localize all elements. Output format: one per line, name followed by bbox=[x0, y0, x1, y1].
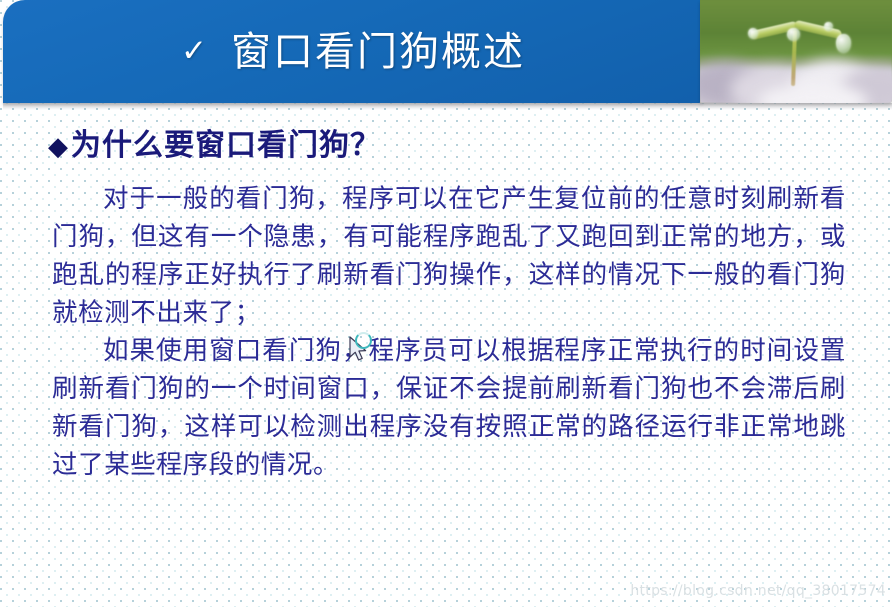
header-photo-seedling bbox=[700, 0, 892, 103]
watermark-url: https://blog.csdn.net/qq_38017574 bbox=[630, 583, 886, 599]
paragraph: 对于一般的看门狗，程序可以在它产生复位前的任意时刻刷新看门狗，但这有一个隐患，有… bbox=[52, 180, 846, 332]
paragraph: 如果使用窗口看门狗，程序员可以根据程序正常执行的时间设置刷新看门狗的一个时间窗口… bbox=[52, 332, 846, 484]
photo-water-droplet bbox=[748, 28, 758, 39]
photo-water-droplet bbox=[836, 34, 851, 53]
section-heading: ◆为什么要窗口看门狗？ bbox=[48, 128, 892, 164]
section-heading-text: 为什么要窗口看门狗？ bbox=[71, 128, 381, 163]
header-drop-shadow bbox=[3, 103, 892, 110]
slide-title-group: ✓ 窗口看门狗概述 bbox=[3, 0, 703, 103]
diamond-bullet-icon: ◆ bbox=[48, 132, 69, 162]
slide-header: ✓ 窗口看门狗概述 bbox=[3, 0, 892, 103]
slide-title: 窗口看门狗概述 bbox=[231, 32, 525, 72]
photo-water-droplet bbox=[824, 22, 833, 31]
photo-water-droplet bbox=[787, 28, 800, 41]
body-paragraphs: 对于一般的看门狗，程序可以在它产生复位前的任意时刻刷新看门狗，但这有一个隐患，有… bbox=[52, 180, 846, 484]
slide-content: ◆为什么要窗口看门狗？ 对于一般的看门狗，程序可以在它产生复位前的任意时刻刷新看… bbox=[0, 110, 892, 484]
slide-canvas: ✓ 窗口看门狗概述 ◆为什么要窗口看门狗？ 对于一般的看门狗，程序可以在它产生复… bbox=[0, 0, 892, 607]
check-icon: ✓ bbox=[181, 36, 209, 67]
